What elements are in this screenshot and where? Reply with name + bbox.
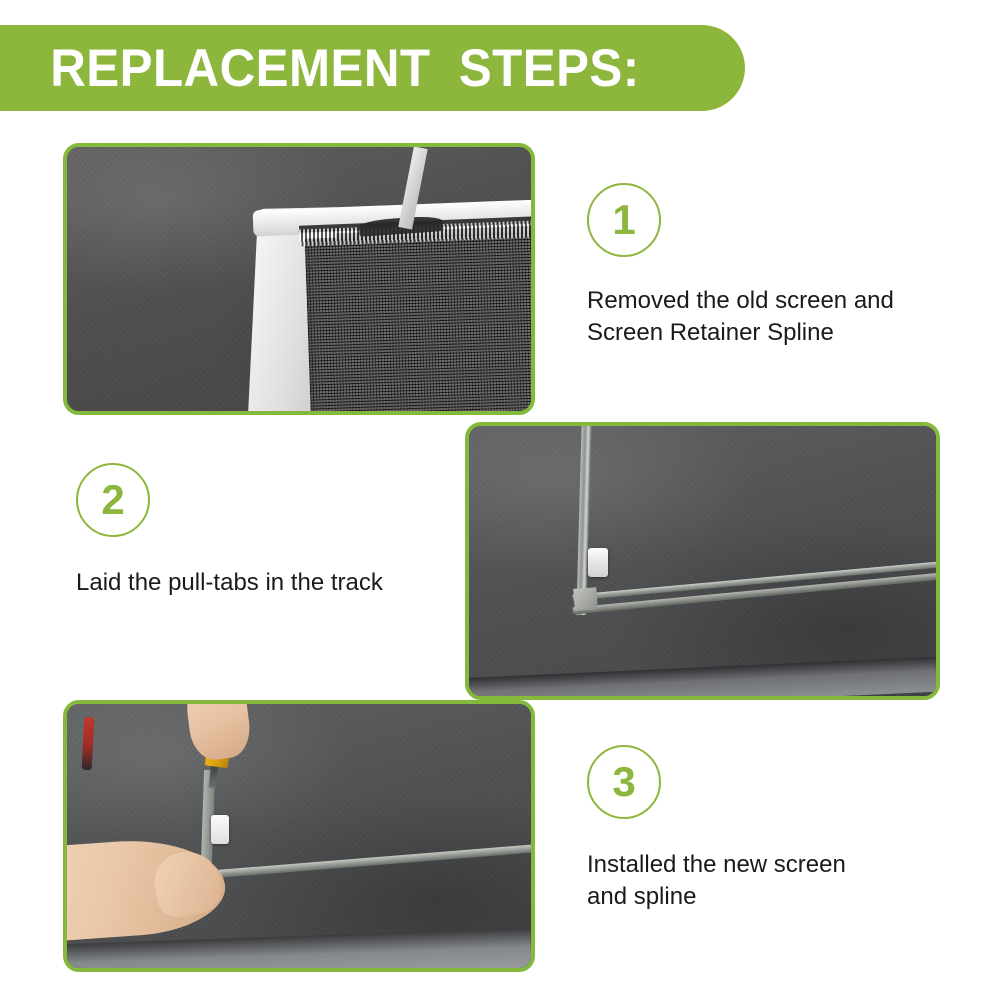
step-1-block: 1 Removed the old screen and Screen Reta… [587, 183, 947, 349]
floor-edge [469, 657, 936, 696]
step-2-description: Laid the pull-tabs in the track [76, 567, 456, 599]
pull-tab [211, 815, 230, 844]
frame-horizontal-rail [206, 843, 531, 878]
carpet-background [67, 147, 531, 411]
step-1-number: 1 [612, 199, 635, 241]
screwdriver [82, 717, 95, 770]
old-screen-mesh [305, 229, 531, 411]
step-1-description: Removed the old screen and Screen Retain… [587, 285, 947, 349]
step-3-photo [63, 700, 535, 972]
carpet-background [469, 426, 936, 696]
infographic-page: REPLACEMENT STEPS: [0, 0, 1000, 1000]
pull-tab [588, 548, 608, 578]
step-3-description: Installed the new screen and spline [587, 849, 947, 913]
hand-upper [183, 704, 253, 763]
step-3-number-badge: 3 [587, 745, 661, 819]
step-2-photo [465, 422, 940, 700]
step-2-number: 2 [101, 479, 124, 521]
page-title: REPLACEMENT STEPS: [0, 42, 640, 95]
step-1-photo-image [67, 147, 531, 411]
header-banner: REPLACEMENT STEPS: [0, 25, 745, 111]
frame-corner [573, 587, 598, 610]
step-1-number-badge: 1 [587, 183, 661, 257]
step-3-number: 3 [612, 761, 635, 803]
step-2-photo-image [469, 426, 936, 696]
step-2-block: 2 Laid the pull-tabs in the track [76, 463, 456, 599]
carpet-background [67, 704, 531, 968]
step-2-number-badge: 2 [76, 463, 150, 537]
step-3-block: 3 Installed the new screen and spline [587, 745, 947, 913]
step-3-photo-image [67, 704, 531, 968]
step-1-photo [63, 143, 535, 415]
